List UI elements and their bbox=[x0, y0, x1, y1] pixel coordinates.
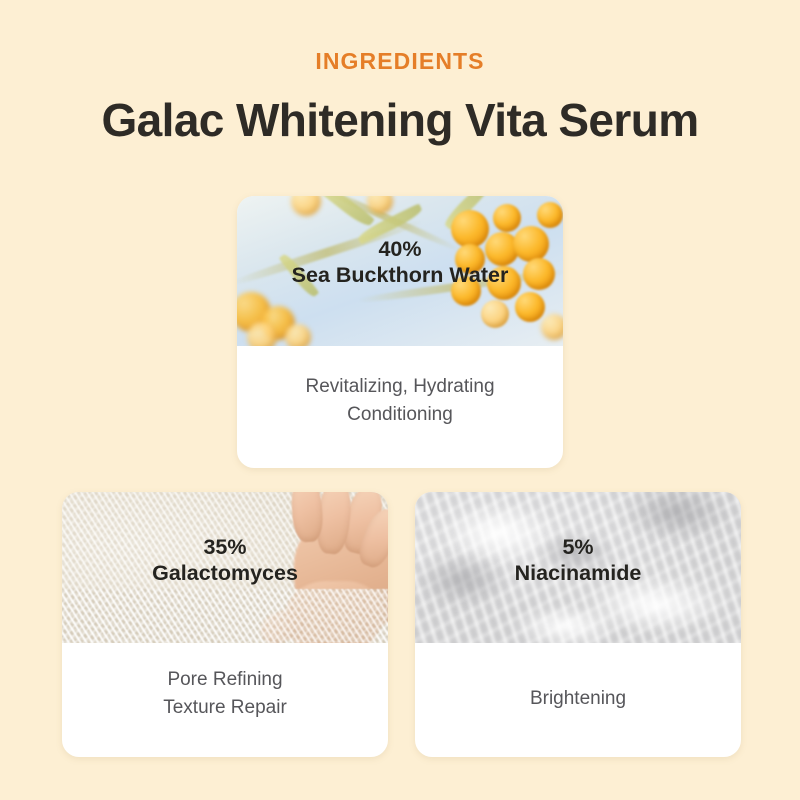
caption-line: Texture Repair bbox=[62, 694, 388, 722]
ingredient-caption-galactomyces: Pore Refining Texture Repair bbox=[62, 643, 388, 721]
ingredients-infographic: INGREDIENTS Galac Whitening Vita Serum bbox=[0, 0, 800, 800]
water-texture-photo: 5% Niacinamide bbox=[415, 492, 741, 643]
ingredient-name: Galactomyces bbox=[62, 560, 388, 586]
ingredient-card-galactomyces[interactable]: 35% Galactomyces Pore Refining Texture R… bbox=[62, 492, 388, 757]
ingredient-name: Sea Buckthorn Water bbox=[237, 262, 563, 288]
ingredient-percent: 40% bbox=[237, 236, 563, 262]
ingredient-label-galactomyces: 35% Galactomyces bbox=[62, 534, 388, 586]
ingredient-label-sea-buckthorn: 40% Sea Buckthorn Water bbox=[237, 236, 563, 288]
sea-buckthorn-berries-photo: 40% Sea Buckthorn Water bbox=[237, 196, 563, 346]
hands-holding-rice-photo: 35% Galactomyces bbox=[62, 492, 388, 643]
ingredient-label-niacinamide: 5% Niacinamide bbox=[415, 534, 741, 586]
ingredient-card-niacinamide[interactable]: 5% Niacinamide Brightening bbox=[415, 492, 741, 757]
caption-line: Pore Refining bbox=[62, 666, 388, 694]
caption-line: Conditioning bbox=[237, 401, 563, 429]
section-eyebrow: INGREDIENTS bbox=[0, 48, 800, 75]
caption-line: Brightening bbox=[415, 685, 741, 713]
ingredient-percent: 5% bbox=[415, 534, 741, 560]
ingredient-caption-sea-buckthorn: Revitalizing, Hydrating Conditioning bbox=[237, 346, 563, 428]
ingredient-card-sea-buckthorn[interactable]: 40% Sea Buckthorn Water Revitalizing, Hy… bbox=[237, 196, 563, 468]
ingredient-percent: 35% bbox=[62, 534, 388, 560]
caption-line: Revitalizing, Hydrating bbox=[237, 373, 563, 401]
page-title: Galac Whitening Vita Serum bbox=[0, 93, 800, 147]
ingredient-name: Niacinamide bbox=[415, 560, 741, 586]
ingredient-caption-niacinamide: Brightening bbox=[415, 643, 741, 713]
